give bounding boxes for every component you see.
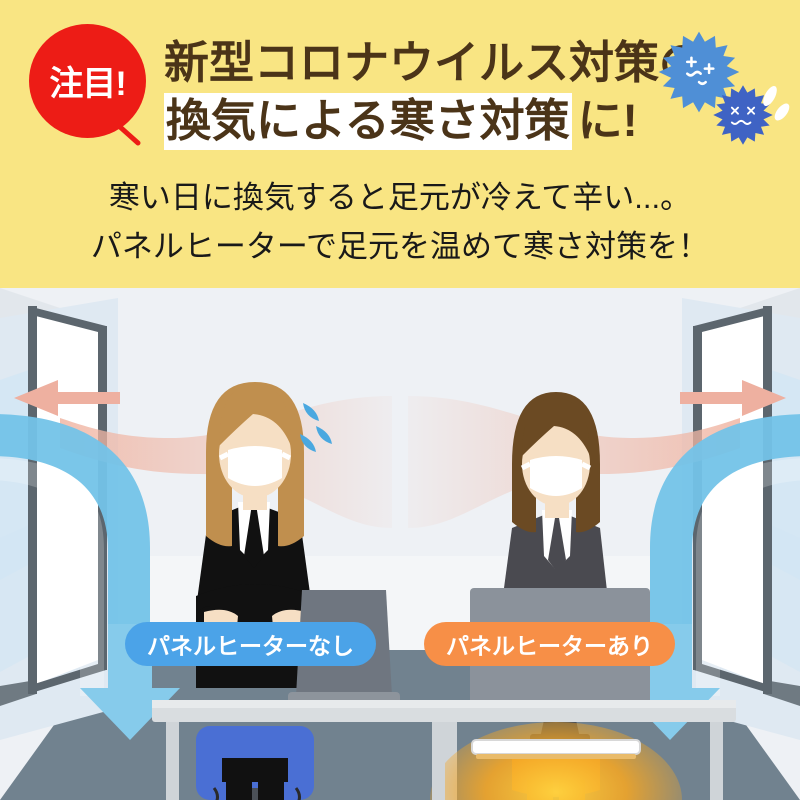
- spark-icon: [760, 84, 794, 126]
- header-section: 注目! 新型コロナウイルス対策の 換気による寒さ対策に! 寒い日に換気すると足元…: [0, 0, 800, 288]
- face-mask-icon: [530, 456, 582, 496]
- scene-illustration: [0, 288, 800, 800]
- attention-badge: 注目!: [29, 24, 146, 138]
- label-with-heater: パネルヒーターあり: [424, 622, 675, 666]
- panel-heater-icon: [472, 740, 640, 759]
- page-title-line2: 換気による寒さ対策に!: [164, 84, 638, 149]
- subtitle-line1: 寒い日に換気すると足元が冷えて辛い...。: [0, 172, 800, 217]
- label-no-heater: パネルヒーターなし: [125, 622, 376, 666]
- illustration-scene: パネルヒーターなし パネルヒーターあり 冷気が下に流れ込み 足元が寒い！ パネル…: [0, 288, 800, 800]
- attention-badge-label: 注目!: [49, 56, 125, 105]
- label-no-heater-text: パネルヒーターなし: [147, 627, 354, 661]
- advertisement-banner: 注目! 新型コロナウイルス対策の 換気による寒さ対策に! 寒い日に換気すると足元…: [0, 0, 800, 800]
- page-title-suffix: に!: [572, 95, 638, 146]
- label-with-heater-text: パネルヒーターあり: [446, 627, 653, 661]
- page-title-highlight: 換気による寒さ対策: [164, 93, 572, 150]
- subtitle-line2: パネルヒーターで足元を温めて寒さ対策を！: [0, 221, 800, 266]
- face-mask-icon: [228, 446, 282, 486]
- page-title-line1: 新型コロナウイルス対策の: [164, 26, 704, 91]
